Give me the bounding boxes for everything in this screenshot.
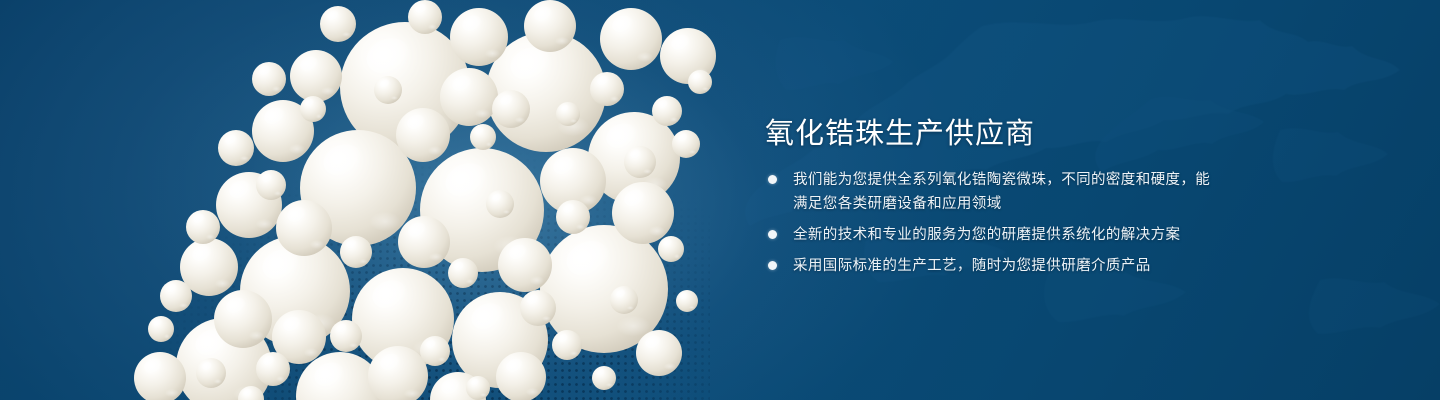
bead bbox=[196, 358, 226, 388]
feature-text: 采用国际标准的生产工艺，随时为您提供研磨介质产品 bbox=[793, 254, 1151, 278]
list-item: 我们能为您提供全系列氧化锆陶瓷微珠，不同的密度和硬度，能满足您各类研磨设备和应用… bbox=[768, 168, 1223, 216]
bullet-dot-icon bbox=[768, 175, 777, 184]
bead bbox=[652, 96, 682, 126]
banner-content: 氧化锆珠生产供应商 我们能为您提供全系列氧化锆陶瓷微珠，不同的密度和硬度，能满足… bbox=[765, 0, 1385, 400]
bullet-dot-icon bbox=[768, 230, 777, 239]
bead bbox=[148, 316, 174, 342]
bead bbox=[556, 200, 590, 234]
bead bbox=[470, 124, 496, 150]
bead bbox=[218, 130, 254, 166]
bead bbox=[374, 76, 402, 104]
feature-text: 全新的技术和专业的服务为您的研磨提供系统化的解决方案 bbox=[793, 223, 1180, 247]
bead bbox=[600, 8, 662, 70]
bead bbox=[688, 70, 712, 94]
hero-banner: 氧化锆珠生产供应商 我们能为您提供全系列氧化锆陶瓷微珠，不同的密度和硬度，能满足… bbox=[0, 0, 1440, 400]
bead bbox=[676, 290, 698, 312]
bead bbox=[636, 330, 682, 376]
bead bbox=[134, 352, 186, 400]
feature-text: 我们能为您提供全系列氧化锆陶瓷微珠，不同的密度和硬度，能满足您各类研磨设备和应用… bbox=[793, 168, 1223, 216]
bead bbox=[492, 90, 530, 128]
bead bbox=[450, 8, 508, 66]
bead bbox=[420, 336, 450, 366]
bead bbox=[612, 182, 674, 244]
bead bbox=[590, 72, 624, 106]
bead bbox=[440, 68, 498, 126]
bead bbox=[408, 0, 442, 34]
bead bbox=[672, 130, 700, 158]
bead bbox=[396, 108, 450, 162]
bead bbox=[160, 280, 192, 312]
bead bbox=[256, 352, 290, 386]
bead bbox=[498, 238, 552, 292]
bead bbox=[368, 346, 428, 400]
bead bbox=[466, 376, 490, 400]
page-title: 氧化锆珠生产供应商 bbox=[765, 110, 1035, 152]
bead bbox=[592, 366, 616, 390]
bead bbox=[624, 146, 656, 178]
bead bbox=[496, 352, 546, 400]
bead bbox=[214, 290, 272, 348]
feature-list: 我们能为您提供全系列氧化锆陶瓷微珠，不同的密度和硬度，能满足您各类研磨设备和应用… bbox=[768, 168, 1223, 285]
bead bbox=[398, 216, 450, 268]
bullet-dot-icon bbox=[768, 261, 777, 270]
bead bbox=[252, 62, 286, 96]
bead bbox=[290, 50, 342, 102]
bead bbox=[256, 170, 286, 200]
bead bbox=[486, 190, 514, 218]
bead bbox=[320, 6, 356, 42]
bead bbox=[330, 320, 362, 352]
bead bbox=[552, 330, 582, 360]
bead bbox=[556, 102, 580, 126]
list-item: 采用国际标准的生产工艺，随时为您提供研磨介质产品 bbox=[768, 254, 1223, 278]
list-item: 全新的技术和专业的服务为您的研磨提供系统化的解决方案 bbox=[768, 223, 1223, 247]
zirconia-bead-cluster-image bbox=[0, 0, 760, 400]
bead bbox=[448, 258, 478, 288]
bead bbox=[658, 236, 684, 262]
bead bbox=[276, 200, 332, 256]
bead bbox=[520, 290, 556, 326]
bead bbox=[186, 210, 220, 244]
bead bbox=[340, 236, 372, 268]
bead bbox=[300, 96, 326, 122]
bead bbox=[610, 286, 638, 314]
bead bbox=[524, 0, 576, 52]
